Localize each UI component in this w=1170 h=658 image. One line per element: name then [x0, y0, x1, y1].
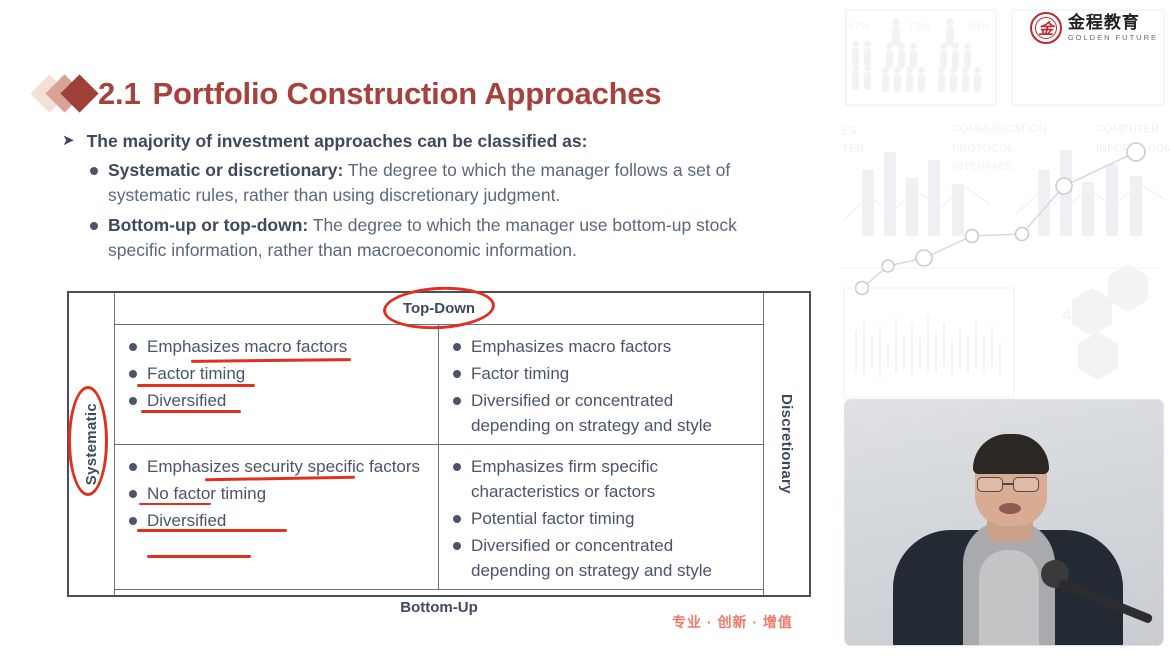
- list-item: Diversified: [129, 388, 428, 413]
- glasses-bridge-icon: [1003, 483, 1013, 485]
- cell-systematic-bottomup: Emphasizes security specific factors No …: [115, 445, 439, 589]
- approach-matrix-table: Systematic Top-Down Emphasizes macro fac…: [67, 291, 811, 597]
- dot-bullet-icon: [129, 463, 137, 471]
- sub-bullet-1: Systematic or discretionary: The degree …: [90, 158, 802, 208]
- table-row: Emphasizes macro factors Factor timing D…: [115, 325, 763, 445]
- list-item: Emphasizes firm specific characteristics…: [453, 454, 753, 504]
- cell-item-text: Factor timing: [147, 361, 245, 386]
- matrix-top-header: Top-Down: [115, 293, 763, 325]
- sub-bullet-2-text: Bottom-up or top-down: The degree to whi…: [108, 213, 788, 263]
- cell-item-text: Factor timing: [471, 361, 569, 386]
- matrix-bottom-header-label: Bottom-Up: [400, 599, 477, 616]
- list-item: Emphasizes macro factors: [453, 334, 753, 359]
- brand-logo: 金 金程教育 GOLDEN FUTURE: [1030, 12, 1158, 44]
- sub-bullet-2: Bottom-up or top-down: The degree to whi…: [90, 213, 802, 263]
- seal-icon: 金: [1030, 12, 1062, 44]
- slide-title-row: 2.1Portfolio Construction Approaches: [36, 72, 661, 116]
- annotation-underline-diversified-2: [147, 555, 251, 558]
- sub-bullet-1-text: Systematic or discretionary: The degree …: [108, 158, 788, 208]
- svg-text:47%: 47%: [848, 21, 870, 33]
- logo-name-en: GOLDEN FUTURE: [1068, 33, 1158, 42]
- matrix-left-axis-label: Systematic: [83, 403, 100, 485]
- svg-text:COMPUTER: COMPUTER: [1096, 123, 1159, 135]
- cell-item-text: Emphasizes macro factors: [147, 334, 347, 359]
- person-mouth: [999, 503, 1021, 514]
- svg-text:PROTOCOL: PROTOCOL: [952, 143, 1014, 155]
- svg-text:40%: 40%: [1062, 305, 1096, 324]
- dot-bullet-icon: [90, 167, 98, 175]
- svg-text:COMMUNICATION: COMMUNICATION: [952, 123, 1047, 135]
- list-item: Emphasizes macro factors: [129, 334, 428, 359]
- background-infographic: 47% 73% 93% ES TER COMMUNICATION PROTOCO…: [840, 0, 1170, 400]
- page-title: 2.1Portfolio Construction Approaches: [98, 76, 661, 112]
- cell-item-text: Diversified or concentrated depending on…: [471, 388, 753, 438]
- diamond-bullet-icon: [36, 72, 98, 116]
- matrix-bottom-header: Bottom-Up: [115, 589, 763, 625]
- dot-bullet-icon: [129, 490, 137, 498]
- matrix-right-axis-label: Discretionary: [778, 394, 795, 494]
- sub-bullet-2-bold: Bottom-up or top-down:: [108, 215, 308, 235]
- list-item: Emphasizes security specific factors: [129, 454, 428, 479]
- dot-bullet-icon: [453, 370, 461, 378]
- dot-bullet-icon: [453, 397, 461, 405]
- lead-bullet: ➤ The majority of investment approaches …: [62, 130, 802, 153]
- logo-name-cn: 金程教育: [1068, 14, 1158, 31]
- list-item: Diversified or concentrated depending on…: [453, 533, 753, 583]
- cell-item-text: Diversified: [147, 508, 226, 533]
- svg-text:TER: TER: [842, 143, 864, 155]
- list-item: Factor timing: [453, 361, 753, 386]
- right-panel: 47% 73% 93% ES TER COMMUNICATION PROTOCO…: [840, 0, 1170, 658]
- dot-bullet-icon: [129, 370, 137, 378]
- dot-bullet-icon: [453, 343, 461, 351]
- svg-text:93%: 93%: [968, 21, 990, 33]
- dot-bullet-icon: [453, 463, 461, 471]
- seal-glyph: 金: [1038, 18, 1053, 39]
- dot-bullet-icon: [453, 542, 461, 550]
- cell-discretionary-bottomup: Emphasizes firm specific characteristics…: [439, 445, 763, 589]
- svg-text:INTERFACE: INTERFACE: [952, 161, 1014, 173]
- person-hoodie-inner: [979, 550, 1039, 645]
- slide-content: 2.1Portfolio Construction Approaches ➤ T…: [0, 0, 840, 658]
- bullet-list: ➤ The majority of investment approaches …: [62, 130, 802, 263]
- dot-bullet-icon: [129, 517, 137, 525]
- list-item: Potential factor timing: [453, 506, 753, 531]
- cell-discretionary-topdown: Emphasizes macro factors Factor timing D…: [439, 325, 763, 444]
- matrix-core: Top-Down Emphasizes macro factors Factor…: [115, 293, 763, 595]
- matrix-body: Emphasizes macro factors Factor timing D…: [115, 325, 763, 589]
- svg-text:73%: 73%: [908, 21, 930, 33]
- slide-player: 2.1Portfolio Construction Approaches ➤ T…: [0, 0, 1170, 658]
- svg-text:ES: ES: [842, 125, 857, 137]
- dot-bullet-icon: [129, 343, 137, 351]
- cell-item-text: Diversified or concentrated depending on…: [471, 533, 753, 583]
- list-item: Diversified or concentrated depending on…: [453, 388, 753, 438]
- list-item: Diversified: [129, 508, 428, 533]
- lead-bullet-label: The majority of investment approaches ca…: [87, 130, 588, 153]
- glasses-left-lens-icon: [977, 477, 1003, 492]
- footer-slogan: 专业 · 创新 · 增值: [672, 612, 793, 632]
- list-item: Factor timing: [129, 361, 428, 386]
- logo-text: 金程教育 GOLDEN FUTURE: [1068, 14, 1158, 42]
- cell-systematic-topdown: Emphasizes macro factors Factor timing D…: [115, 325, 439, 444]
- cell-item-text: Diversified: [147, 388, 226, 413]
- title-label: Portfolio Construction Approaches: [153, 76, 662, 111]
- cell-item-text: Emphasizes firm specific characteristics…: [471, 454, 753, 504]
- sub-bullet-1-bold: Systematic or discretionary:: [108, 160, 343, 180]
- dot-bullet-icon: [90, 222, 98, 230]
- cell-item-text: Emphasizes security specific factors: [147, 454, 420, 479]
- dot-bullet-icon: [129, 397, 137, 405]
- glasses-right-lens-icon: [1013, 477, 1039, 492]
- cell-item-text: Potential factor timing: [471, 506, 634, 531]
- matrix-right-axis: Discretionary: [763, 293, 809, 595]
- title-number: 2.1: [98, 76, 141, 111]
- cell-item-text: Emphasizes macro factors: [471, 334, 671, 359]
- arrow-bullet-icon: ➤: [62, 130, 75, 152]
- cell-item-text: No factor timing: [147, 481, 266, 506]
- table-row: Emphasizes security specific factors No …: [115, 445, 763, 589]
- matrix-left-axis: Systematic: [69, 293, 115, 595]
- list-item: No factor timing: [129, 481, 428, 506]
- matrix-top-header-label: Top-Down: [403, 300, 475, 317]
- dot-bullet-icon: [453, 515, 461, 523]
- instructor-video-tile[interactable]: [845, 400, 1163, 645]
